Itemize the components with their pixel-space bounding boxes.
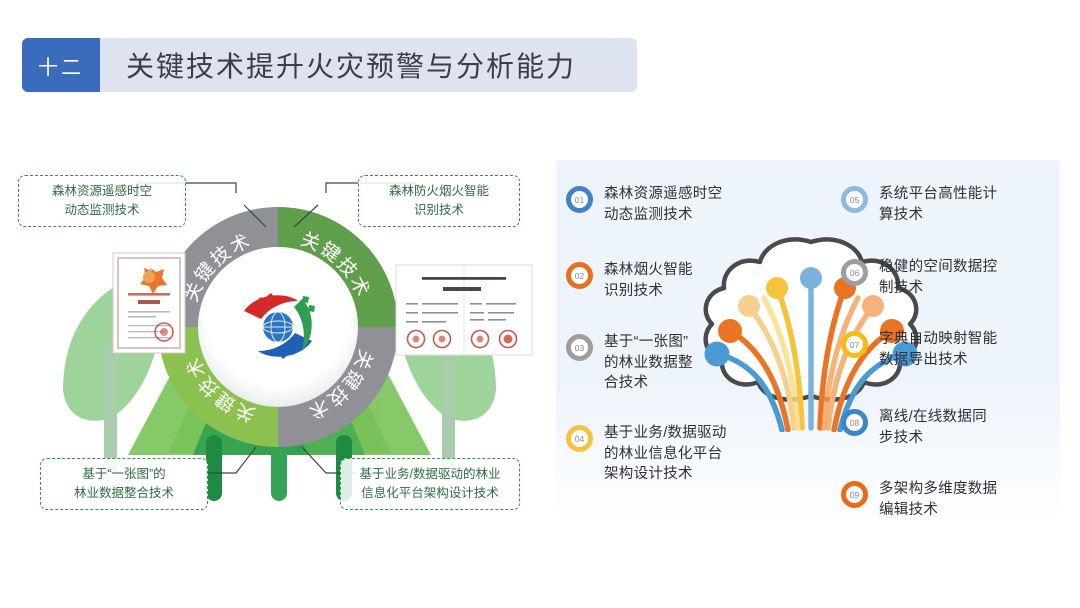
technology-label: 森林资源遥感时空 动态监测技术: [604, 184, 722, 225]
technology-label: 森林烟火智能 识别技术: [604, 260, 693, 301]
technology-item-05[interactable]: 05系统平台高性能计 算技术: [841, 184, 1056, 225]
callout-top-right: 森林防火烟火智能 识别技术: [358, 175, 520, 227]
technology-number-badge: 08: [841, 409, 868, 436]
technology-number-badge: 06: [841, 259, 868, 286]
title-bar: 十二 关键技术提升火灾预警与分析能力: [22, 38, 637, 92]
technology-item-06[interactable]: 06稳健的空间数据控 制技术: [841, 257, 1056, 298]
slide-root: 十二 关键技术提升火灾预警与分析能力: [0, 0, 1080, 608]
certificate-left: [113, 253, 185, 353]
technology-label: 多架构多维度数据 编辑技术: [879, 479, 997, 520]
technology-label: 离线/在线数据同 步技术: [879, 407, 987, 448]
technology-number-badge: 02: [566, 262, 593, 289]
technology-label: 基于“一张图” 的林业数据整 合技术: [604, 332, 693, 394]
technology-number-badge: 04: [566, 425, 593, 452]
technology-label: 字典自动映射智能 数据导出技术: [879, 329, 997, 370]
section-number-badge: 十二: [22, 38, 100, 92]
certificate-right: [396, 265, 532, 355]
technology-label: 稳健的空间数据控 制技术: [879, 257, 997, 298]
page-title: 关键技术提升火灾预警与分析能力: [100, 45, 637, 85]
callout-bottom-right: 基于业务/数据驱动的林业 信息化平台架构设计技术: [340, 458, 520, 510]
technology-number-badge: 09: [841, 481, 868, 508]
technology-label: 系统平台高性能计 算技术: [879, 184, 997, 225]
technology-list-panel: 01森林资源遥感时空 动态监测技术02森林烟火智能 识别技术03基于“一张图” …: [556, 160, 1060, 520]
technology-item-02[interactable]: 02森林烟火智能 识别技术: [566, 260, 786, 301]
callout-top-left: 森林资源遥感时空 动态监测技术: [18, 175, 186, 227]
callout-bottom-left: 基于“一张图”的 林业数据整合技术: [40, 458, 208, 510]
technology-number-badge: 03: [566, 334, 593, 361]
technology-label: 基于业务/数据驱动 的林业信息化平台 架构设计技术: [604, 423, 727, 485]
technology-item-01[interactable]: 01森林资源遥感时空 动态监测技术: [566, 184, 786, 225]
technology-number-badge: 01: [566, 186, 593, 213]
technology-number-badge: 05: [841, 186, 868, 213]
technology-item-09[interactable]: 09多架构多维度数据 编辑技术: [841, 479, 1056, 520]
technology-item-04[interactable]: 04基于业务/数据驱动 的林业信息化平台 架构设计技术: [566, 423, 786, 485]
technology-item-08[interactable]: 08离线/在线数据同 步技术: [841, 407, 1056, 448]
technology-item-03[interactable]: 03基于“一张图” 的林业数据整 合技术: [566, 332, 786, 394]
technology-number-badge: 07: [841, 331, 868, 358]
technology-item-07[interactable]: 07字典自动映射智能 数据导出技术: [841, 329, 1056, 370]
